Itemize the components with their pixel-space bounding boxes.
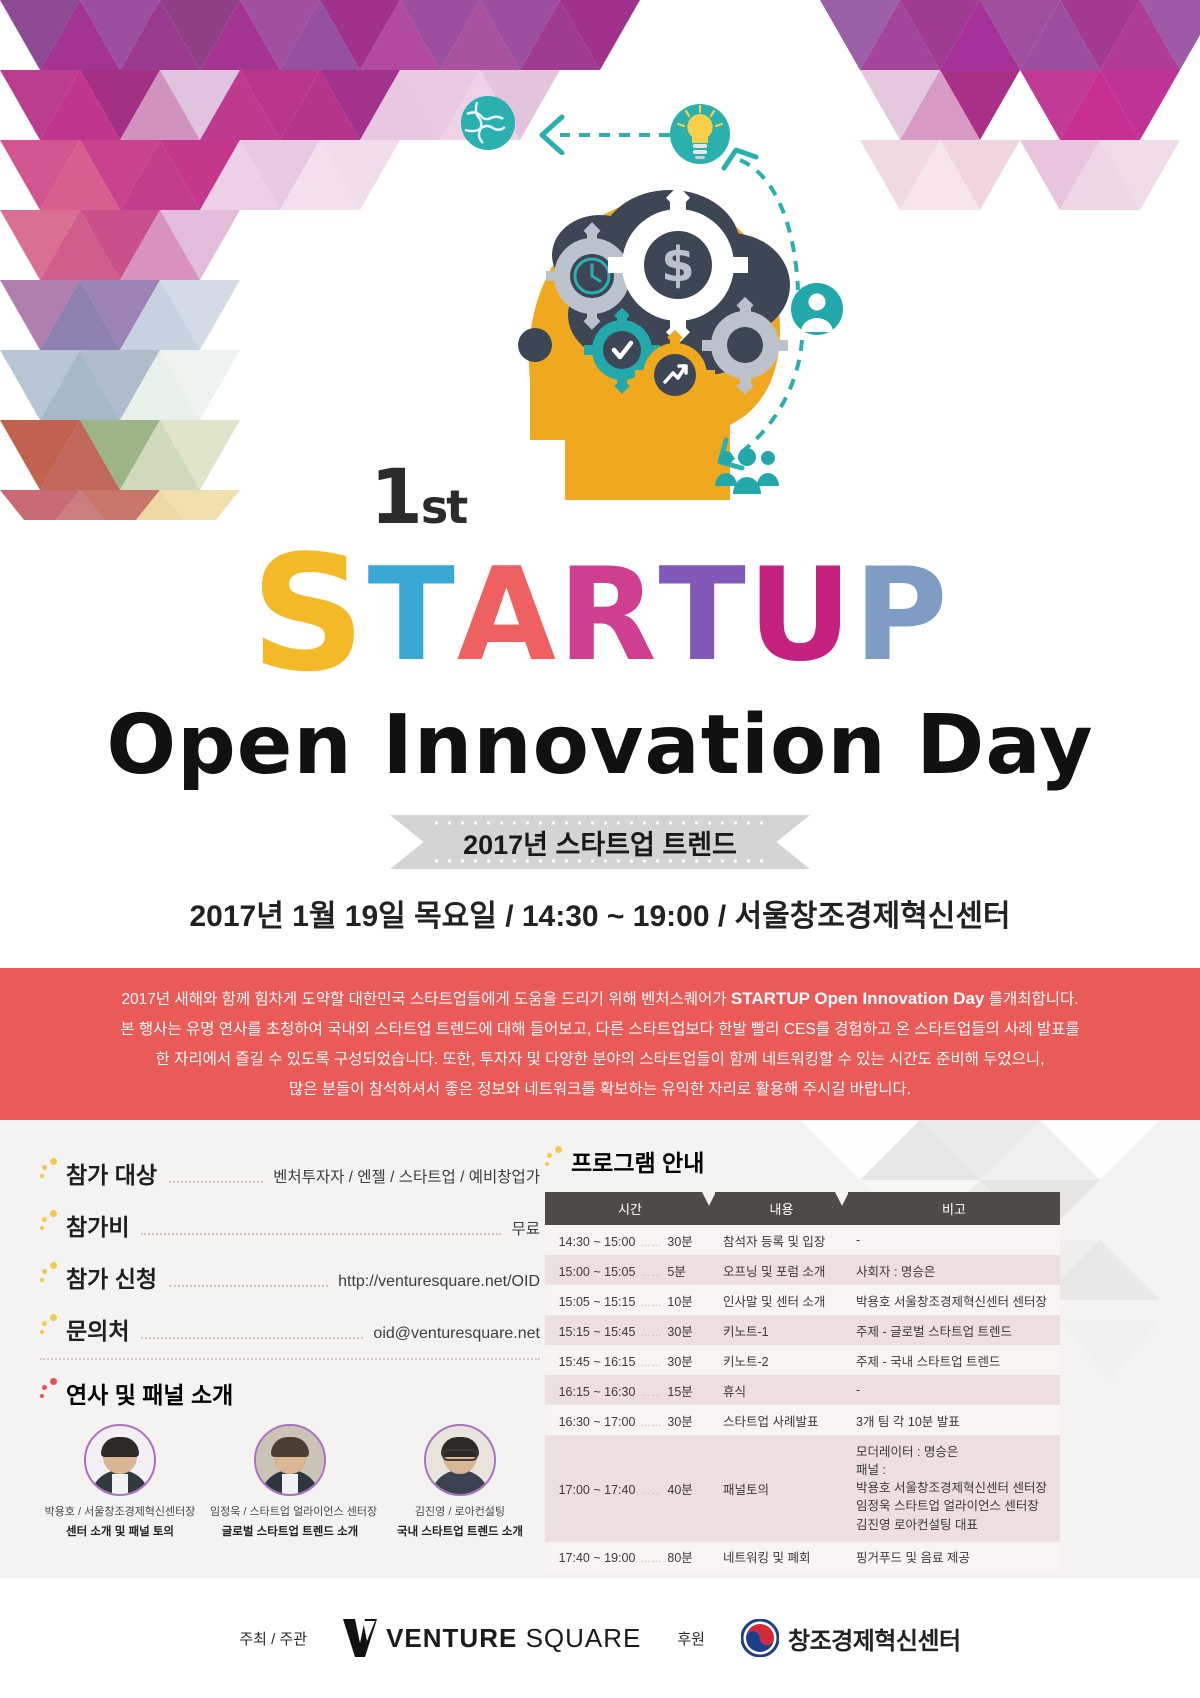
cell-time: 17:40 ~ 19:00……80분 bbox=[545, 1542, 715, 1572]
leader-line bbox=[169, 1181, 263, 1183]
cell-time: 15:15 ~ 15:45……30분 bbox=[545, 1315, 715, 1345]
info-label-registration: 참가 신청 bbox=[40, 1260, 157, 1294]
cell-time: 17:00 ~ 17:40……40분 bbox=[545, 1435, 715, 1542]
cell-note: 박용호 서울창조경제혁신센터 센터장 bbox=[848, 1285, 1060, 1315]
dot-decoration-icon bbox=[40, 1314, 62, 1334]
subtitle-open-innovation-day: Open Innovation Day bbox=[0, 698, 1200, 793]
cell-time: 15:05 ~ 15:15……10분 bbox=[545, 1285, 715, 1315]
svg-text:$: $ bbox=[661, 237, 694, 293]
speaker-name: 임정욱 / 스타트업 얼라이언스 센터장 bbox=[210, 1505, 370, 1520]
startup-letter-6: P bbox=[854, 552, 950, 680]
body-section: 참가 대상 벤처투자자 / 엔젤 / 스타트업 / 예비창업가 참가비 무료 참… bbox=[0, 1120, 1200, 1578]
cell-content: 네트워킹 및 폐회 bbox=[715, 1542, 848, 1572]
table-row: 15:00 ~ 15:05……5분오프닝 및 포럼 소개사회자 : 명승은 bbox=[545, 1255, 1060, 1285]
ordinal-label: 1st bbox=[370, 452, 466, 541]
ccei-text: 창조경제혁신센터 bbox=[788, 1621, 961, 1656]
cell-content: 참석자 등록 및 입장 bbox=[715, 1225, 848, 1255]
info-row: 문의처 oid@venturesquare.net bbox=[40, 1300, 540, 1346]
startup-letter-4: T bbox=[659, 552, 748, 680]
speaker-card: 김진영 / 로아컨설팅 국내 스타트업 트렌드 소개 bbox=[380, 1424, 540, 1539]
column-header-note: 비고 bbox=[848, 1192, 1060, 1225]
ribbon-banner: 2017년 스타트업 트렌드 bbox=[390, 815, 810, 869]
venture-square-mark-icon bbox=[343, 1619, 377, 1657]
dot-decoration-icon bbox=[545, 1146, 567, 1166]
title-block: 1st STARTUP Open Innovation Day 2017년 스타… bbox=[0, 440, 1200, 935]
section-divider bbox=[40, 1358, 540, 1360]
startup-wordmark: STARTUP bbox=[0, 534, 1200, 694]
intro-line-1b: 를개최합니다. bbox=[984, 991, 1078, 1008]
cell-note: 주제 - 글로벌 스타트업 트렌드 bbox=[848, 1315, 1060, 1345]
speaker-card: 임정욱 / 스타트업 얼라이언스 센터장 글로벌 스타트업 트렌드 소개 bbox=[210, 1424, 370, 1539]
leader-line bbox=[141, 1233, 501, 1235]
intro-line-2: 본 행사는 유명 연사를 초청하여 국내외 스타트업 트렌드에 대해 들어보고,… bbox=[120, 1018, 1079, 1042]
column-header-content: 내용 bbox=[715, 1192, 848, 1225]
cell-note: - bbox=[848, 1375, 1060, 1405]
venture-square-text: VENTURE SQUARE bbox=[386, 1623, 641, 1654]
cell-time: 16:30 ~ 17:00……30분 bbox=[545, 1405, 715, 1435]
glasses-icon bbox=[442, 1449, 478, 1461]
info-column: 참가 대상 벤처투자자 / 엔젤 / 스타트업 / 예비창업가 참가비 무료 참… bbox=[40, 1144, 540, 1539]
info-label-target: 참가 대상 bbox=[40, 1156, 157, 1190]
cell-time: 14:30 ~ 15:00……30분 bbox=[545, 1225, 715, 1255]
leader-line bbox=[169, 1285, 328, 1287]
info-label-text: 문의처 bbox=[66, 1318, 129, 1344]
host-label: 주최 / 주관 bbox=[239, 1628, 307, 1649]
dot-decoration-icon bbox=[40, 1262, 62, 1282]
ribbon-label: 2017년 스타트업 트렌드 bbox=[463, 823, 737, 862]
startup-letter-1: T bbox=[368, 552, 457, 680]
intro-line-3: 한 자리에서 즐길 수 있도록 구성되었습니다. 또한, 투자자 및 다양한 분… bbox=[156, 1048, 1045, 1072]
info-label-contact: 문의처 bbox=[40, 1312, 129, 1346]
ribbon-dots-top bbox=[430, 821, 770, 825]
cell-note: - bbox=[848, 1225, 1060, 1255]
cell-content: 키노트-1 bbox=[715, 1315, 848, 1345]
speaker-name: 김진영 / 로아컨설팅 bbox=[380, 1505, 540, 1520]
info-value-fee: 무료 bbox=[511, 1217, 540, 1242]
cell-content: 키노트-2 bbox=[715, 1345, 848, 1375]
program-column: 프로그램 안내 시간 내용 비고 14:30 ~ 15:00……30분참석자 등… bbox=[545, 1144, 1160, 1572]
avatar bbox=[424, 1424, 496, 1496]
intro-line-1-emphasis: STARTUP Open Innovation Day bbox=[731, 989, 984, 1008]
sponsor-label: 후원 bbox=[677, 1628, 705, 1649]
globe-icon bbox=[457, 92, 519, 154]
cell-time: 15:00 ~ 15:05……5분 bbox=[545, 1255, 715, 1285]
cell-note: 모더레이터 : 명승은패널 :박용호 서울창조경제혁신센터 센터장임정욱 스타트… bbox=[848, 1435, 1060, 1542]
info-label-text: 참가비 bbox=[66, 1214, 129, 1240]
speaker-topic: 글로벌 스타트업 트렌드 소개 bbox=[210, 1523, 370, 1539]
leader-line bbox=[141, 1337, 363, 1339]
speaker-list: 박용호 / 서울창조경제혁신센터장 센터 소개 및 패널 토의 임정욱 / 스타… bbox=[40, 1424, 540, 1539]
info-row: 참가비 무료 bbox=[40, 1196, 540, 1242]
intro-line-1a: 2017년 새해와 함께 힘차게 도약할 대한민국 스타트업들에게 도움을 드리… bbox=[121, 991, 730, 1008]
cell-note: 핑거푸드 및 음료 제공 bbox=[848, 1542, 1060, 1572]
speaker-topic: 센터 소개 및 패널 토의 bbox=[40, 1523, 200, 1539]
startup-letter-3: R bbox=[558, 552, 659, 680]
avatar bbox=[254, 1424, 326, 1496]
speaker-name: 박용호 / 서울창조경제혁신센터장 bbox=[40, 1505, 200, 1520]
startup-letter-5: U bbox=[748, 552, 854, 680]
footer-section: 주최 / 주관 VENTURE SQUARE 후원 창조경제혁신센터 bbox=[0, 1578, 1200, 1698]
ccei-logo: 창조경제혁신센터 bbox=[741, 1619, 961, 1657]
startup-letter-2: A bbox=[457, 552, 558, 680]
table-row: 16:30 ~ 17:00……30분스타트업 사례발표3개 팀 각 10분 발표 bbox=[545, 1405, 1060, 1435]
program-heading: 프로그램 안내 bbox=[545, 1144, 1160, 1178]
triangle-mosaic-right bbox=[820, 0, 1200, 330]
cell-note: 사회자 : 명승은 bbox=[848, 1255, 1060, 1285]
intro-line-1: 2017년 새해와 함께 힘차게 도약할 대한민국 스타트업들에게 도움을 드리… bbox=[121, 986, 1078, 1012]
column-header-time: 시간 bbox=[545, 1192, 715, 1225]
program-table: 시간 내용 비고 14:30 ~ 15:00……30분참석자 등록 및 입장-1… bbox=[545, 1192, 1060, 1572]
cell-content: 스타트업 사례발표 bbox=[715, 1405, 848, 1435]
speaker-topic: 국내 스타트업 트렌드 소개 bbox=[380, 1523, 540, 1539]
cell-time: 15:45 ~ 16:15……30분 bbox=[545, 1345, 715, 1375]
info-label-fee: 참가비 bbox=[40, 1208, 129, 1242]
contact-email-link[interactable]: oid@venturesquare.net bbox=[373, 1325, 540, 1346]
table-row: 15:05 ~ 15:15……10분인사말 및 센터 소개박용호 서울창조경제혁… bbox=[545, 1285, 1060, 1315]
info-row: 참가 신청 http://venturesquare.net/OID bbox=[40, 1248, 540, 1294]
table-row: 15:45 ~ 16:15……30분키노트-2주제 - 국내 스타트업 트렌드 bbox=[545, 1345, 1060, 1375]
table-header-row: 시간 내용 비고 bbox=[545, 1192, 1060, 1225]
avatar bbox=[84, 1424, 156, 1496]
dot-decoration-icon bbox=[40, 1210, 62, 1230]
cell-note: 주제 - 국내 스타트업 트렌드 bbox=[848, 1345, 1060, 1375]
hero-section: $ bbox=[0, 0, 1200, 968]
info-row: 참가 대상 벤처투자자 / 엔젤 / 스타트업 / 예비창업가 bbox=[40, 1144, 540, 1190]
cell-content: 패널토의 bbox=[715, 1435, 848, 1542]
cell-note: 3개 팀 각 10분 발표 bbox=[848, 1405, 1060, 1435]
info-label-text: 참가 대상 bbox=[66, 1162, 157, 1188]
table-row: 16:15 ~ 16:30……15분휴식- bbox=[545, 1375, 1060, 1405]
event-datetime-venue: 2017년 1월 19일 목요일 / 14:30 ~ 19:00 / 서울창조경… bbox=[0, 891, 1200, 935]
cell-content: 오프닝 및 포럼 소개 bbox=[715, 1255, 848, 1285]
cell-time: 16:15 ~ 16:30……15분 bbox=[545, 1375, 715, 1405]
table-row: 14:30 ~ 15:00……30분참석자 등록 및 입장- bbox=[545, 1225, 1060, 1255]
dot-decoration-icon bbox=[40, 1158, 62, 1178]
info-value-target: 벤처투자자 / 엔젤 / 스타트업 / 예비창업가 bbox=[273, 1165, 540, 1190]
table-row: 17:00 ~ 17:40……40분패널토의모더레이터 : 명승은패널 :박용호… bbox=[545, 1435, 1060, 1542]
intro-paragraph-band: 2017년 새해와 함께 힘차게 도약할 대한민국 스타트업들에게 도움을 드리… bbox=[0, 968, 1200, 1120]
startup-letter-0: S bbox=[250, 534, 367, 694]
cell-content: 인사말 및 센터 소개 bbox=[715, 1285, 848, 1315]
speakers-heading-text: 연사 및 패널 소개 bbox=[66, 1382, 233, 1408]
table-row: 15:15 ~ 15:45……30분키노트-1주제 - 글로벌 스타트업 트렌드 bbox=[545, 1315, 1060, 1345]
table-row: 17:40 ~ 19:00……80분네트워킹 및 폐회핑거푸드 및 음료 제공 bbox=[545, 1542, 1060, 1572]
speakers-heading: 연사 및 패널 소개 bbox=[40, 1376, 540, 1410]
info-label-text: 참가 신청 bbox=[66, 1266, 157, 1292]
cell-content: 휴식 bbox=[715, 1375, 848, 1405]
ccei-mark-icon bbox=[741, 1619, 779, 1657]
venture-square-logo: VENTURE SQUARE bbox=[343, 1619, 641, 1657]
speaker-card: 박용호 / 서울창조경제혁신센터장 센터 소개 및 패널 토의 bbox=[40, 1424, 200, 1539]
ribbon-dots-bottom bbox=[430, 859, 770, 863]
dot-decoration-icon bbox=[40, 1378, 62, 1398]
program-heading-text: 프로그램 안내 bbox=[571, 1150, 704, 1176]
registration-url-link[interactable]: http://venturesquare.net/OID bbox=[338, 1273, 540, 1294]
intro-line-4: 많은 분들이 참석하셔서 좋은 정보와 네트워크를 확보하는 유익한 자리로 활… bbox=[289, 1078, 911, 1102]
